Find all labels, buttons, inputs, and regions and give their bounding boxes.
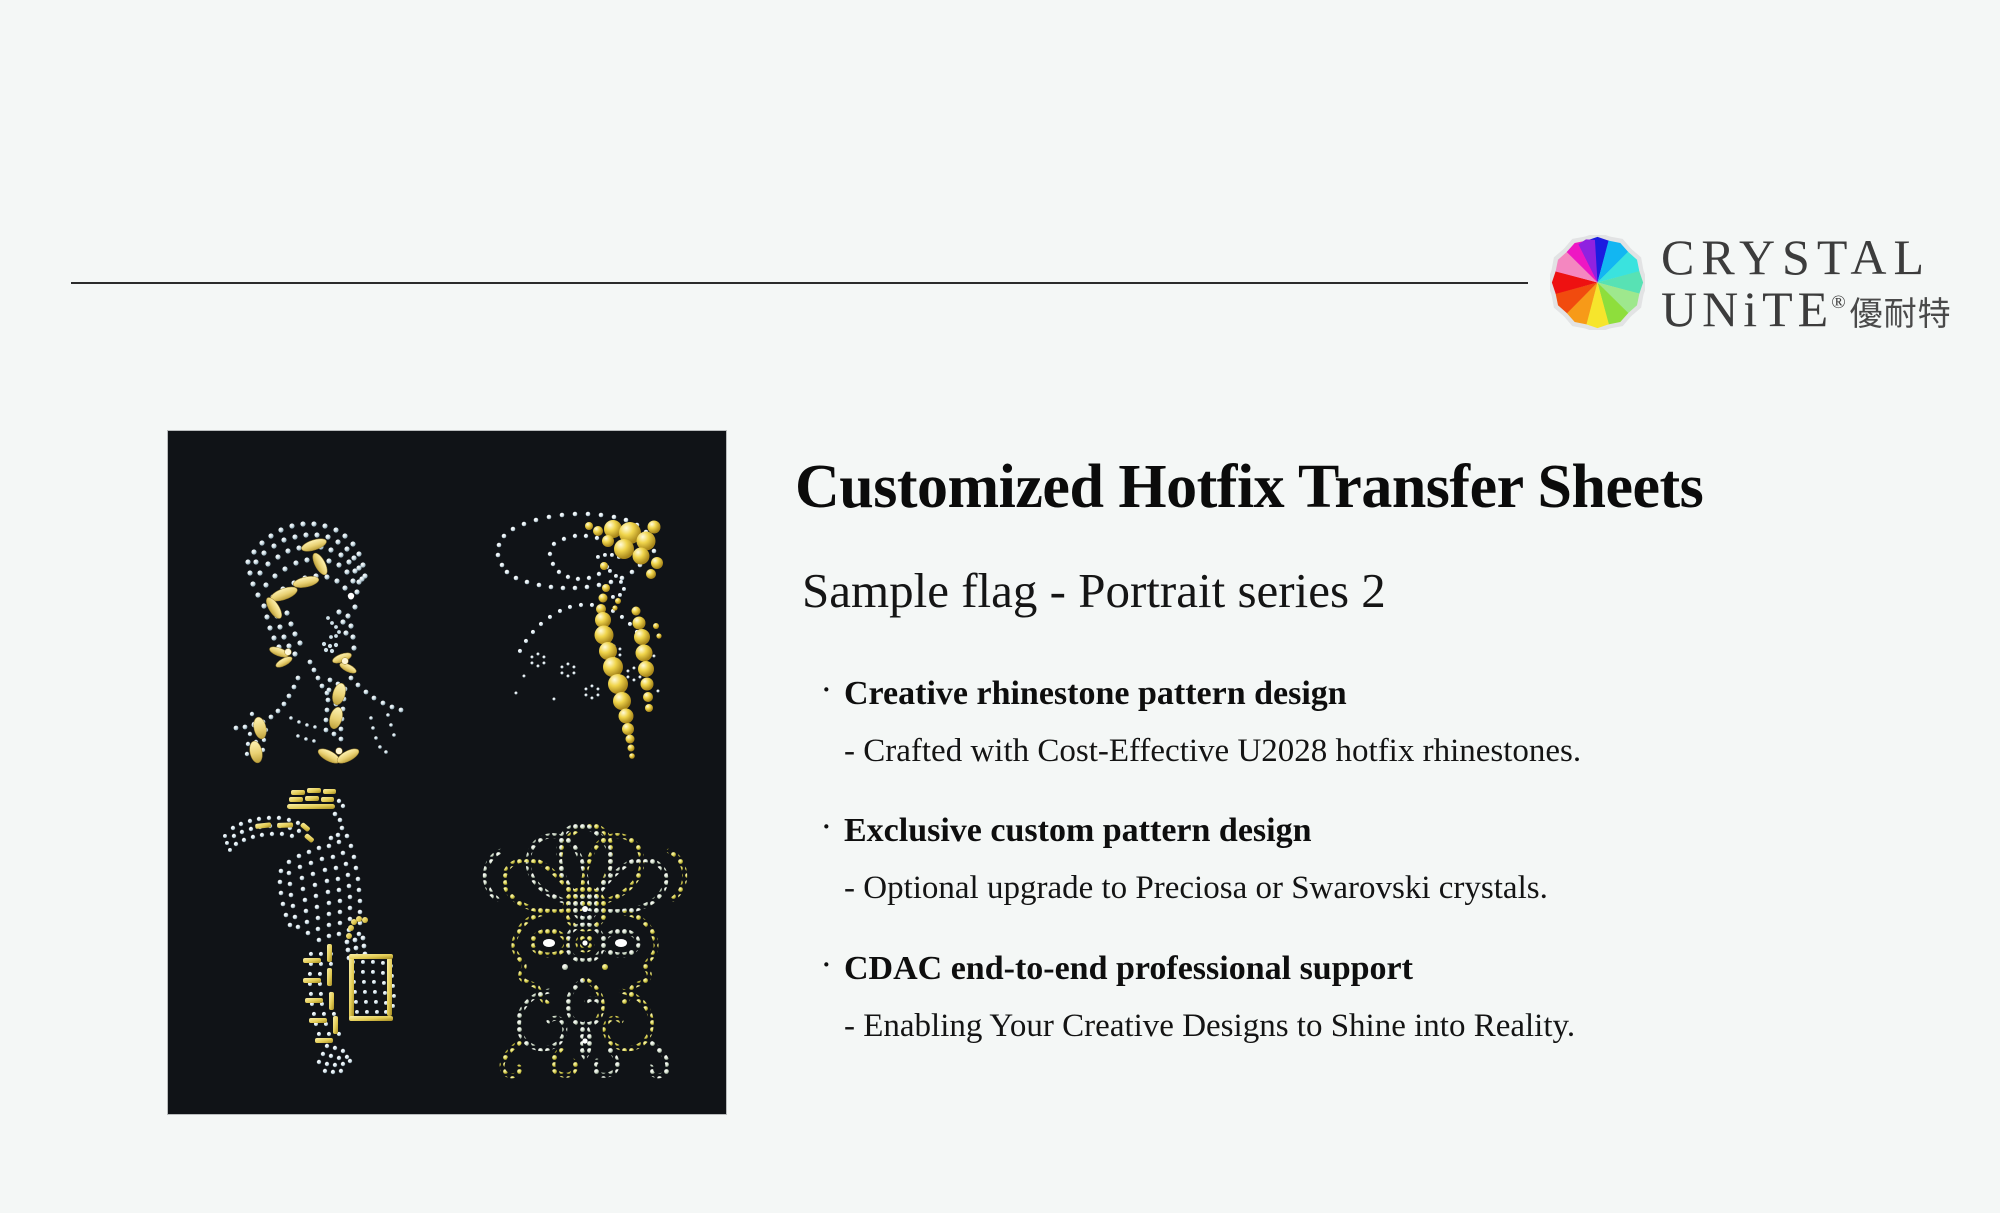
bullet-heading: Exclusive custom pattern design bbox=[844, 811, 1312, 852]
page-title: Customized Hotfix Transfer Sheets bbox=[795, 455, 1935, 520]
list-item: · CDAC end-to-end professional support -… bbox=[822, 949, 1935, 1046]
bullet-dot-icon: · bbox=[822, 677, 844, 703]
bullet-dot-icon: · bbox=[822, 814, 844, 840]
bullet-heading-row: · CDAC end-to-end professional support bbox=[822, 949, 1935, 990]
crystal-unite-flower-logo bbox=[1550, 235, 1645, 330]
bullet-heading-row: · Exclusive custom pattern design bbox=[822, 811, 1935, 852]
page-subtitle: Sample flag - Portrait series 2 bbox=[802, 564, 1935, 618]
slide-header: CRYSTAL UNiTE®優耐特 bbox=[0, 0, 2000, 330]
brand-logo: CRYSTAL UNiTE®優耐特 bbox=[1550, 225, 1970, 340]
hat-lady-pearl-necklace bbox=[458, 471, 713, 771]
gentleman-with-briefcase bbox=[203, 776, 448, 1086]
header-divider-line bbox=[71, 282, 1528, 284]
feature-bullet-list: · Creative rhinestone pattern design - C… bbox=[822, 674, 1935, 1046]
registered-trademark-icon: ® bbox=[1831, 293, 1845, 312]
bullet-heading-row: · Creative rhinestone pattern design bbox=[822, 674, 1935, 715]
slide-content: Customized Hotfix Transfer Sheets Sample… bbox=[795, 455, 1935, 1046]
list-item: · Creative rhinestone pattern design - C… bbox=[822, 674, 1935, 771]
rhinestone-sample-panel bbox=[167, 430, 727, 1115]
brand-name-unite: UNiTE bbox=[1661, 284, 1833, 334]
bullet-detail: - Enabling Your Creative Designs to Shin… bbox=[844, 1007, 1935, 1047]
bullet-dot-icon: · bbox=[822, 952, 844, 978]
bullet-heading: Creative rhinestone pattern design bbox=[844, 674, 1347, 715]
brand-name-chinese: 優耐特 bbox=[1850, 299, 1952, 332]
bullet-detail: - Crafted with Cost-Effective U2028 hotf… bbox=[844, 732, 1935, 772]
bullet-heading: CDAC end-to-end professional support bbox=[844, 949, 1413, 990]
twin-profile-paisley-motif bbox=[453, 781, 718, 1081]
flapper-woman-portrait bbox=[188, 466, 458, 766]
brand-name-crystal: CRYSTAL bbox=[1661, 232, 1952, 282]
brand-wordmark: CRYSTAL UNiTE®優耐特 bbox=[1661, 232, 1952, 334]
list-item: · Exclusive custom pattern design - Opti… bbox=[822, 811, 1935, 908]
brand-name-unite-row: UNiTE®優耐特 bbox=[1661, 284, 1952, 334]
bullet-detail: - Optional upgrade to Preciosa or Swarov… bbox=[844, 869, 1935, 909]
